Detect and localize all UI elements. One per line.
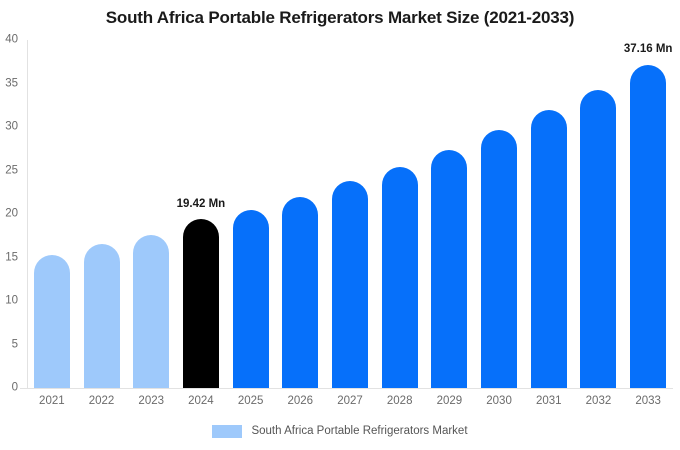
bar-2021[interactable] [34, 255, 70, 388]
x-axis-tick-label-2029: 2029 [437, 396, 463, 408]
x-axis-tick-label-2022: 2022 [89, 396, 115, 408]
chart-legend: South Africa Portable Refrigerators Mark… [0, 425, 680, 438]
bar-value-label-2024: 19.42 Mn [177, 199, 226, 211]
bar-2025[interactable] [233, 210, 269, 388]
x-axis-tick-label-2024: 2024 [188, 396, 214, 408]
bar-chart: South Africa Portable Refrigerators Mark… [0, 0, 680, 450]
y-axis-tick-label: 15 [5, 252, 27, 264]
legend-swatch-market [212, 425, 242, 438]
x-axis-tick-label-2023: 2023 [138, 396, 164, 408]
bar-2028[interactable] [382, 167, 418, 388]
x-axis-tick-label-2027: 2027 [337, 396, 363, 408]
x-axis-tick-label-2030: 2030 [486, 396, 512, 408]
y-axis-tick-label: 35 [5, 78, 27, 90]
x-axis-tick-label-2026: 2026 [288, 396, 314, 408]
bar-2022[interactable] [84, 244, 120, 388]
bar-2023[interactable] [133, 235, 169, 388]
bar-2027[interactable] [332, 181, 368, 388]
bar-2031[interactable] [531, 110, 567, 388]
x-axis-tick-label-2025: 2025 [238, 396, 264, 408]
x-axis-tick-label-2021: 2021 [39, 396, 65, 408]
y-axis-tick-label: 0 [12, 382, 27, 394]
y-axis-tick-label: 20 [5, 208, 27, 220]
y-axis-tick-label: 40 [5, 34, 27, 46]
legend-label-market: South Africa Portable Refrigerators Mark… [251, 426, 467, 438]
y-axis-tick-label: 5 [12, 339, 27, 351]
bar-2024[interactable] [183, 219, 219, 388]
plot-area: 0510152025303540 19.42 Mn37.16 Mn [27, 40, 673, 388]
x-axis-tick-label-2031: 2031 [536, 396, 562, 408]
y-axis-tick-label: 30 [5, 121, 27, 133]
x-axis-tick-label-2028: 2028 [387, 396, 413, 408]
x-axis-tick-label-2033: 2033 [635, 396, 661, 408]
chart-title: South Africa Portable Refrigerators Mark… [0, 8, 680, 28]
bar-2032[interactable] [580, 90, 616, 388]
x-axis-tick-label-2032: 2032 [586, 396, 612, 408]
x-axis-line [20, 388, 673, 389]
bar-2033[interactable] [630, 65, 666, 388]
bar-value-label-2033: 37.16 Mn [624, 44, 673, 56]
bar-2029[interactable] [431, 150, 467, 388]
y-axis-tick-label: 10 [5, 295, 27, 307]
bar-2026[interactable] [282, 197, 318, 388]
bar-2030[interactable] [481, 130, 517, 388]
y-axis-tick-label: 25 [5, 165, 27, 177]
